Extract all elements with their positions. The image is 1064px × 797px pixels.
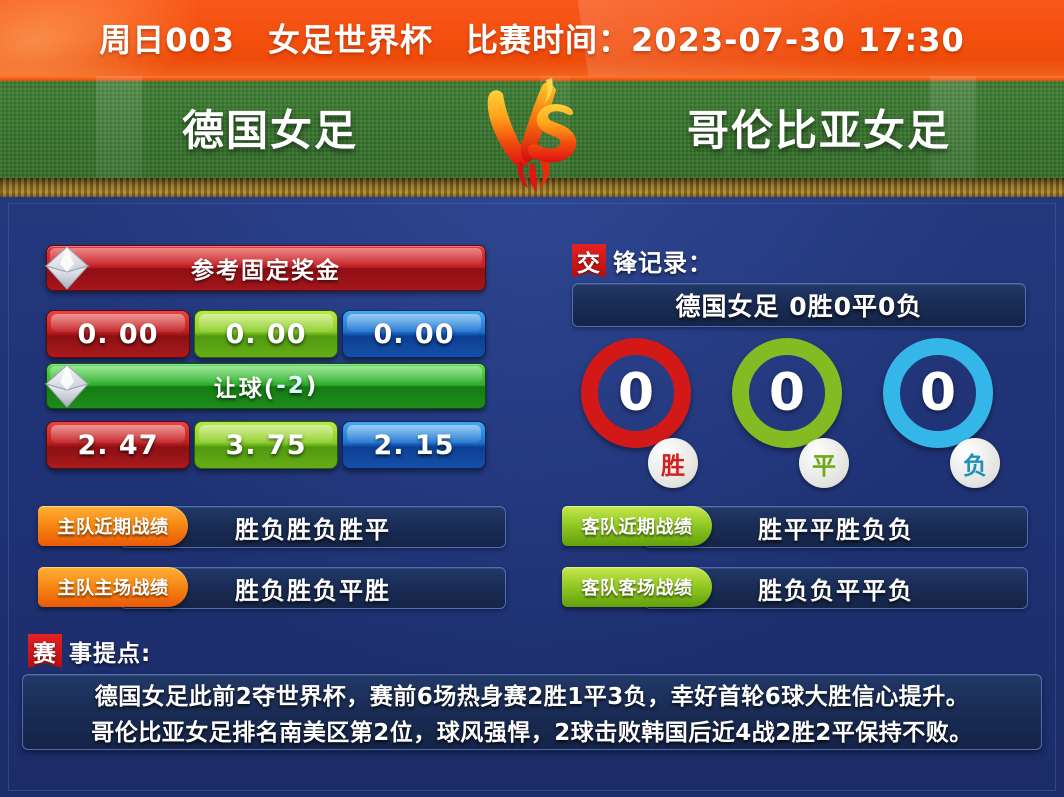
page-title: 周日003 女足世界杯 比赛时间：2023-07-30 17:30	[0, 0, 1064, 76]
fixed-odd-home-value: 0. 00	[77, 319, 158, 350]
notes-box: 德国女足此前2夺世界杯，赛前6场热身赛2胜1平3负，幸好首轮6球大胜信心提升。 …	[22, 674, 1042, 750]
handicap-header: 让球(-2)	[46, 363, 486, 409]
handicap-label-end: )	[306, 373, 319, 399]
diamond-gem-icon	[41, 242, 93, 294]
away-venue-tag: 客队客场战绩	[562, 567, 712, 607]
notes-badge-icon: 赛	[28, 634, 62, 668]
handicap-odd-draw[interactable]: 3. 75	[194, 421, 338, 469]
handicap-odd-home-value: 2. 47	[77, 430, 158, 461]
notes-line: 哥伦比亚女足排名南美区第2位，球风强悍，2球击败韩国后近4战2胜2平保持不败。	[91, 713, 973, 747]
ring-lose-badge: 负	[950, 438, 1000, 488]
ring-draw-value: 0	[769, 367, 805, 419]
h2h-ring-lose: 0 负	[878, 338, 998, 488]
notes-title-text: 事提点:	[69, 634, 151, 668]
fixed-prize-header: 参考固定奖金	[46, 245, 486, 291]
h2h-title-text: 锋记录：	[613, 243, 713, 278]
h2h-summary: 德国女足 0胜0平0负	[572, 283, 1026, 327]
handicap-label: 让球(	[214, 369, 277, 403]
ring-win-value: 0	[618, 367, 654, 419]
home-venue-tag: 主队主场战绩	[38, 567, 188, 607]
away-recent-tag: 客队近期战绩	[562, 506, 712, 546]
home-team-name: 德国女足	[120, 76, 420, 178]
handicap-odd-draw-value: 3. 75	[225, 430, 306, 461]
ring-win: 0	[581, 338, 691, 448]
h2h-section-title: 交 锋记录：	[572, 243, 713, 278]
fixed-odd-home[interactable]: 0. 00	[46, 310, 190, 358]
handicap-odd-home[interactable]: 2. 47	[46, 421, 190, 469]
handicap-value: -2	[276, 373, 306, 399]
handicap-odd-away-value: 2. 15	[373, 430, 454, 461]
h2h-badge-icon: 交	[572, 244, 606, 278]
ring-win-badge: 胜	[648, 438, 698, 488]
handicap-odd-away[interactable]: 2. 15	[342, 421, 486, 469]
match-preview-card: 周日003 女足世界杯 比赛时间：2023-07-30 17:30 德国女足 哥…	[0, 0, 1064, 797]
flame-vs-icon	[472, 78, 592, 196]
fixed-prize-label: 参考固定奖金	[191, 251, 341, 285]
ring-lose: 0	[883, 338, 993, 448]
home-recent-tag: 主队近期战绩	[38, 506, 188, 546]
fixed-odd-draw-value: 0. 00	[225, 319, 306, 350]
fixed-odd-draw[interactable]: 0. 00	[194, 310, 338, 358]
ring-draw: 0	[732, 338, 842, 448]
notes-line: 德国女足此前2夺世界杯，赛前6场热身赛2胜1平3负，幸好首轮6球大胜信心提升。	[95, 677, 970, 711]
h2h-ring-win: 0 胜	[576, 338, 696, 488]
h2h-ring-draw: 0 平	[727, 338, 847, 488]
notes-section-title: 赛 事提点:	[28, 634, 151, 668]
fixed-odd-away-value: 0. 00	[373, 319, 454, 350]
diamond-gem-icon	[41, 360, 93, 412]
ring-lose-value: 0	[920, 367, 956, 419]
away-team-name: 哥伦比亚女足	[634, 76, 1004, 178]
ring-draw-badge: 平	[799, 438, 849, 488]
fixed-odd-away[interactable]: 0. 00	[342, 310, 486, 358]
